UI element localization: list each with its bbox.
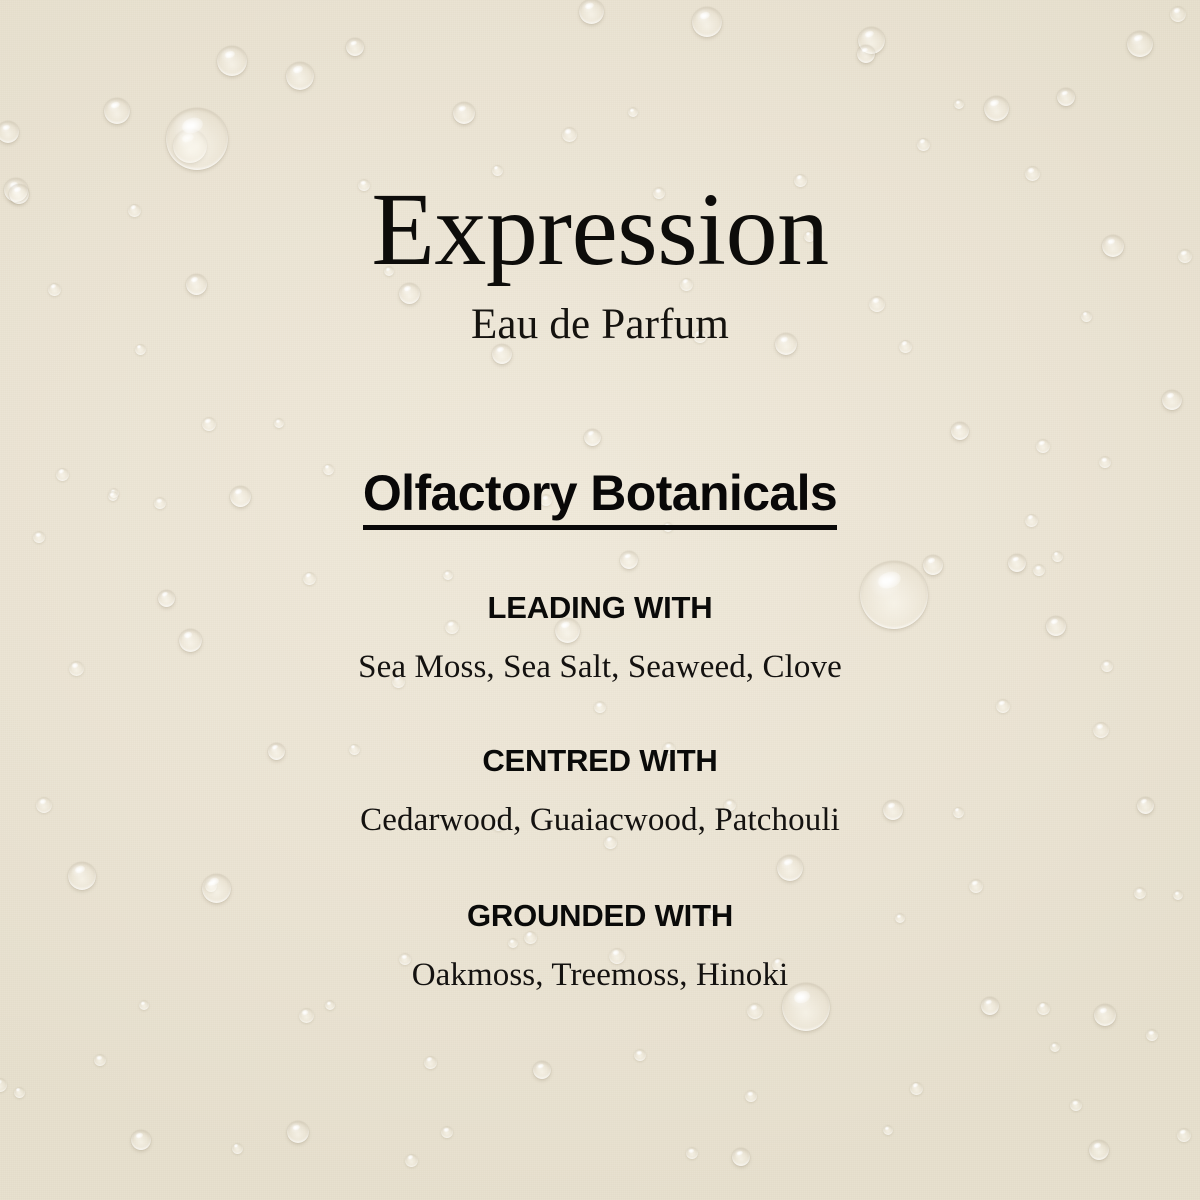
- olfactory-section-heading-text: Olfactory Botanicals: [363, 468, 837, 530]
- note-group-centred: CENTRED WITH Cedarwood, Guaiacwood, Patc…: [0, 745, 1200, 837]
- note-group-grounded: GROUNDED WITH Oakmoss, Treemoss, Hinoki: [0, 900, 1200, 992]
- note-group-leading: LEADING WITH Sea Moss, Sea Salt, Seaweed…: [0, 592, 1200, 684]
- product-title: Expression: [0, 178, 1200, 282]
- product-card: Expression Eau de Parfum Olfactory Botan…: [0, 0, 1200, 1200]
- note-group-ingredients: Oakmoss, Treemoss, Hinoki: [0, 959, 1200, 992]
- note-group-label: CENTRED WITH: [0, 745, 1200, 776]
- card-content: Expression Eau de Parfum Olfactory Botan…: [0, 0, 1200, 1200]
- note-group-label: LEADING WITH: [0, 592, 1200, 623]
- note-group-label: GROUNDED WITH: [0, 900, 1200, 931]
- note-group-ingredients: Cedarwood, Guaiacwood, Patchouli: [0, 804, 1200, 837]
- note-group-ingredients: Sea Moss, Sea Salt, Seaweed, Clove: [0, 651, 1200, 684]
- product-type: Eau de Parfum: [0, 303, 1200, 346]
- olfactory-section-heading: Olfactory Botanicals: [0, 468, 1200, 530]
